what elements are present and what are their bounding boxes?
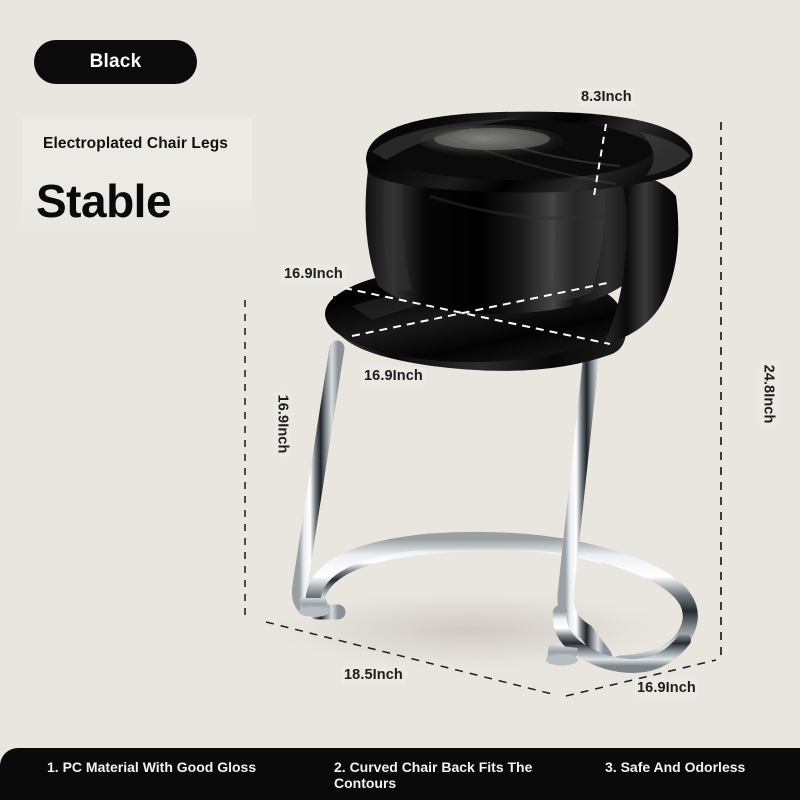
- dimension-label-seat-depth: 16.9Inch: [361, 367, 426, 385]
- feature-item-2: 2. Curved Chair Back Fits The Contours: [334, 759, 549, 791]
- dimension-label-seat-height: 16.9Inch: [273, 392, 291, 457]
- headline-title: Stable: [36, 178, 171, 224]
- infographic-page: Black Electroplated Chair Legs Stable 8.…: [0, 0, 800, 800]
- color-badge-label: Black: [90, 51, 142, 73]
- color-badge[interactable]: Black: [34, 40, 197, 84]
- headline-kicker: Electroplated Chair Legs: [43, 135, 228, 153]
- dimension-label-base-depth: 16.9Inch: [634, 679, 699, 697]
- feature-bar: 1. PC Material With Good Gloss 2. Curved…: [0, 748, 800, 800]
- dimension-label-base-width: 18.5Inch: [341, 666, 406, 684]
- feature-item-3: 3. Safe And Odorless: [605, 759, 780, 775]
- dimension-label-overall-height: 24.8Inch: [759, 362, 777, 427]
- dimension-label-backrest-height: 8.3Inch: [578, 88, 635, 106]
- feature-item-1: 1. PC Material With Good Gloss: [47, 759, 262, 775]
- dimension-label-seat-width: 16.9Inch: [281, 265, 346, 283]
